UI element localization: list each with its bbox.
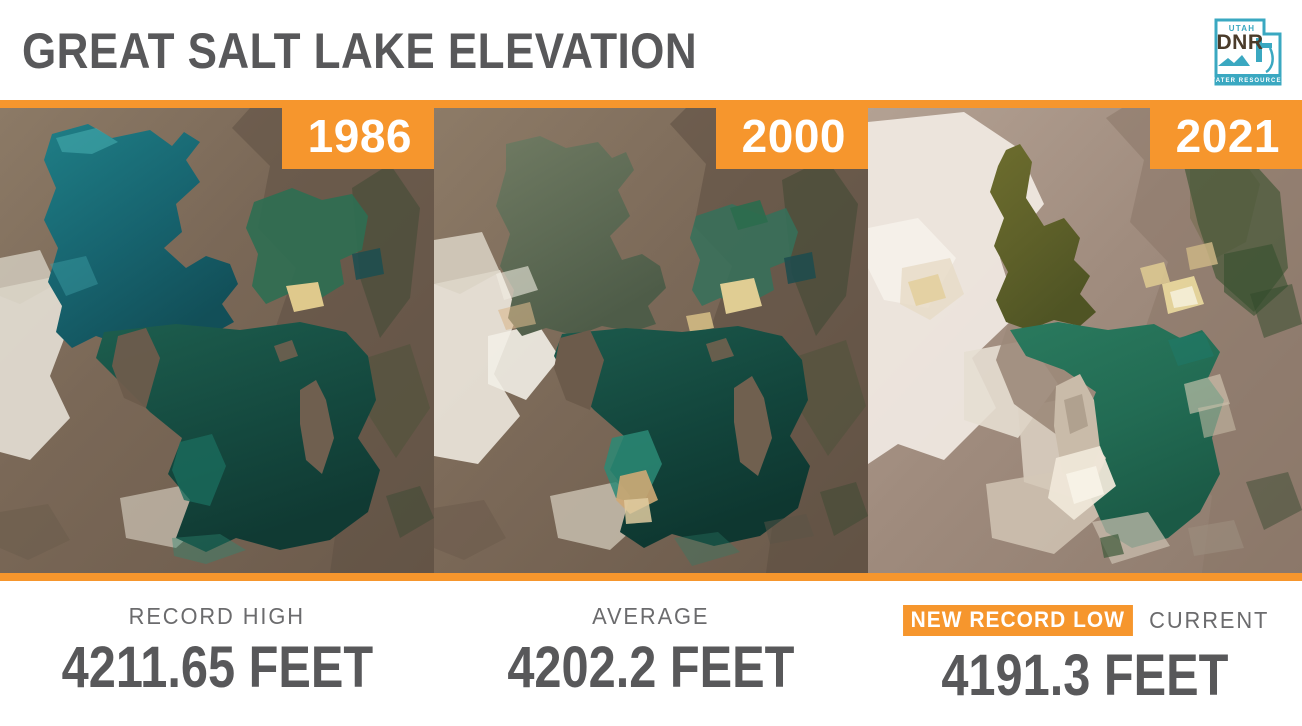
panel-2021[interactable]: 2021 bbox=[868, 108, 1302, 573]
year-badge-1986: 1986 bbox=[282, 108, 434, 169]
satellite-image-2000 bbox=[434, 108, 868, 573]
panels-row: 1986 bbox=[0, 108, 1302, 573]
header: GREAT SALT LAKE ELEVATION UTAH DNR WATER… bbox=[0, 0, 1302, 100]
year-badge-2000: 2000 bbox=[716, 108, 868, 169]
stat-value-2021: 4191.3 FEET bbox=[941, 647, 1228, 705]
strip-top-rule bbox=[0, 100, 1302, 108]
year-badge-2021: 2021 bbox=[1150, 108, 1302, 169]
satellite-image-2021 bbox=[868, 108, 1302, 573]
svg-text:WATER RESOURCES: WATER RESOURCES bbox=[1209, 78, 1286, 84]
infographic-root: GREAT SALT LAKE ELEVATION UTAH DNR WATER… bbox=[0, 0, 1302, 726]
satellite-panel-strip: 1986 bbox=[0, 100, 1302, 581]
page-title: GREAT SALT LAKE ELEVATION bbox=[22, 26, 697, 76]
stat-label-row-1986: RECORD HIGH bbox=[124, 605, 310, 628]
footer-stats: RECORD HIGH 4211.65 FEET AVERAGE 4202.2 … bbox=[0, 581, 1302, 726]
stat-label-row-2000: AVERAGE bbox=[589, 605, 713, 628]
panel-2000[interactable]: 2000 bbox=[434, 108, 868, 573]
stat-value-2000: 4202.2 FEET bbox=[507, 639, 794, 697]
svg-text:DNR: DNR bbox=[1217, 31, 1264, 54]
status-badge-new-record-low: NEW RECORD LOW bbox=[904, 605, 1134, 636]
stat-label-2000: AVERAGE bbox=[592, 605, 709, 628]
stat-label-row-2021: NEW RECORD LOW CURRENT bbox=[897, 605, 1272, 636]
satellite-image-1986 bbox=[0, 108, 434, 573]
stat-value-1986: 4211.65 FEET bbox=[61, 639, 372, 697]
stat-2000: AVERAGE 4202.2 FEET bbox=[434, 581, 868, 726]
stat-1986: RECORD HIGH 4211.65 FEET bbox=[0, 581, 434, 726]
utah-dnr-water-resources-logo: UTAH DNR WATER RESOURCES bbox=[1202, 14, 1294, 96]
panel-1986[interactable]: 1986 bbox=[0, 108, 434, 573]
stat-2021: NEW RECORD LOW CURRENT 4191.3 FEET bbox=[868, 581, 1302, 726]
strip-bottom-rule bbox=[0, 573, 1302, 581]
stat-label-1986: RECORD HIGH bbox=[129, 605, 305, 628]
stat-label-2021: CURRENT bbox=[1149, 609, 1269, 632]
